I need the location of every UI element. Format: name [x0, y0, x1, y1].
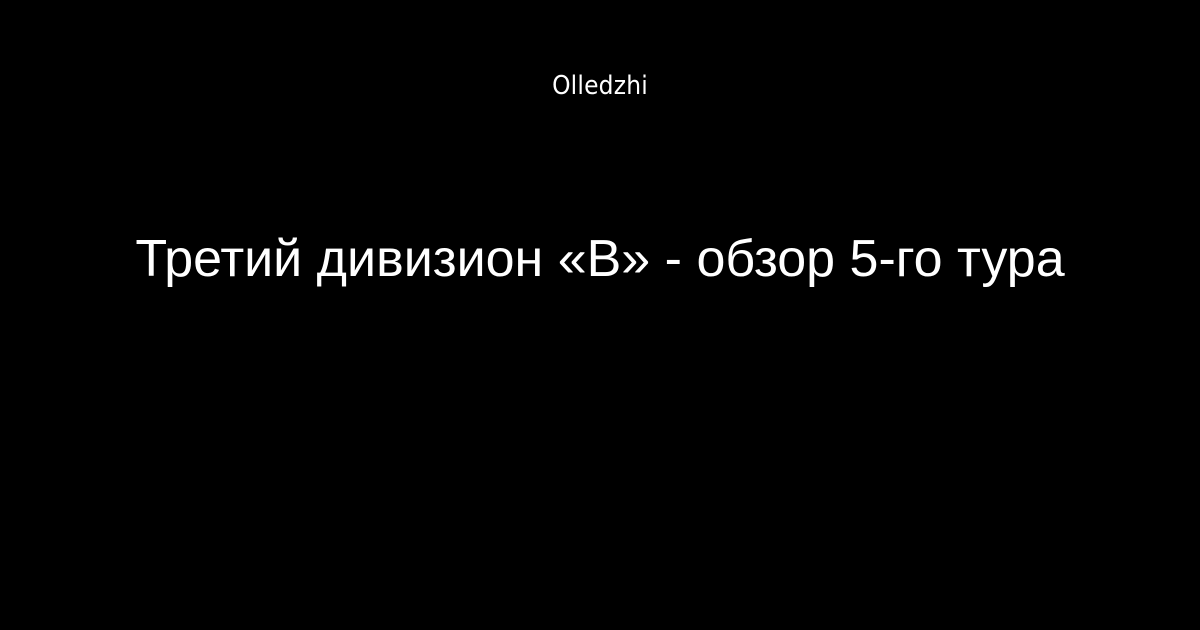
site-name: Olledzhi — [0, 70, 1200, 102]
open-graph-preview-card: Olledzhi Третий дивизион «В» - обзор 5-г… — [0, 0, 1200, 630]
page-title: Третий дивизион «В» - обзор 5-го тура — [60, 228, 1140, 290]
headline-container: Третий дивизион «В» - обзор 5-го тура — [60, 228, 1140, 290]
